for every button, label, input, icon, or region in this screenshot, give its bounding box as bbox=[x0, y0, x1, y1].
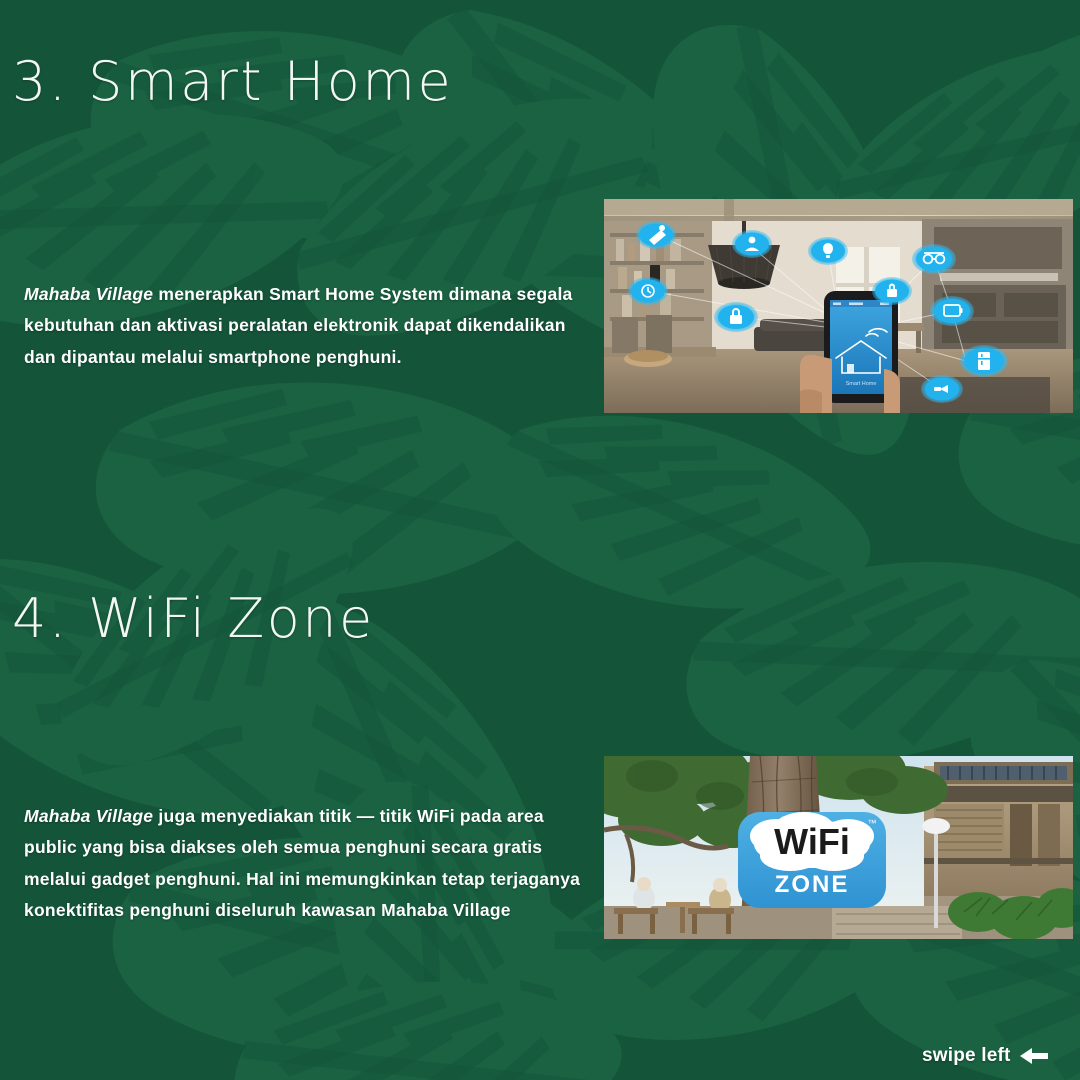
clock-icon bbox=[628, 277, 668, 305]
section-heading-smart-home: 3. Smart Home bbox=[12, 50, 453, 113]
wifi-zone-photo[interactable]: WiFi ™ ZONE bbox=[604, 756, 1073, 939]
television-icon bbox=[930, 296, 974, 326]
padlock-icon bbox=[714, 302, 758, 332]
person-icon bbox=[732, 230, 772, 258]
wifi-sign-trademark-text: ™ bbox=[868, 818, 877, 828]
smart-home-photo[interactable]: Smart Home bbox=[604, 199, 1073, 413]
wifi-sign-secondary-text: ZONE bbox=[775, 871, 850, 898]
lightbulb-icon bbox=[808, 237, 848, 265]
satellite-dish-icon bbox=[636, 221, 676, 249]
arrow-left-icon[interactable] bbox=[1019, 1046, 1049, 1066]
slide-root: 3. Smart Home Mahaba Village menerapkan … bbox=[0, 0, 1080, 1080]
wifi-sign-primary-text: WiFi bbox=[774, 821, 850, 862]
section-body-wifi-zone: Mahaba Village juga menyediakan titik — … bbox=[24, 801, 594, 927]
swipe-left-label: swipe left bbox=[922, 1045, 1011, 1067]
power-plug-icon bbox=[921, 375, 963, 403]
lock-icon bbox=[872, 277, 912, 305]
wifi-zone-sign: WiFi ™ ZONE bbox=[738, 812, 886, 908]
brand-name-wifi-zone: Mahaba Village bbox=[24, 806, 153, 826]
section-heading-wifi-zone: 4. WiFi Zone bbox=[12, 587, 375, 650]
brand-name-smart-home: Mahaba Village bbox=[24, 284, 153, 304]
section-body-smart-home: Mahaba Village menerapkan Smart Home Sys… bbox=[24, 279, 584, 374]
swipe-left-indicator[interactable]: swipe left bbox=[922, 1045, 1049, 1067]
svg-text:Smart Home: Smart Home bbox=[846, 381, 877, 387]
refrigerator-icon bbox=[960, 345, 1008, 377]
washing-machine-icon bbox=[912, 244, 956, 274]
